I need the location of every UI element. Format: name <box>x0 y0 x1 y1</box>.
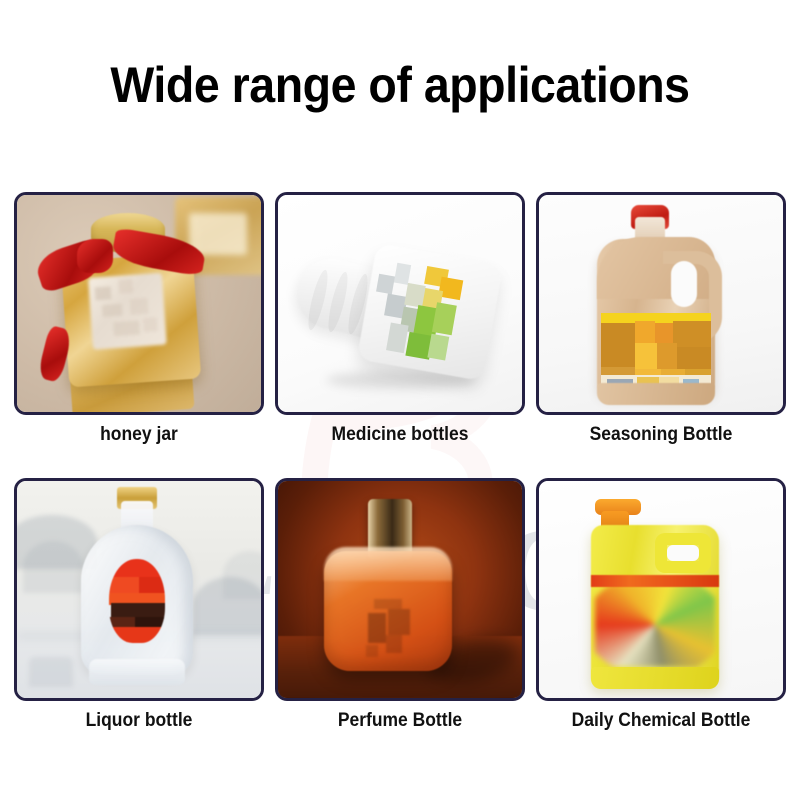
page-title: Wide range of applications <box>28 56 772 114</box>
card-liquor-bottle[interactable] <box>14 478 264 701</box>
caption-seasoning-bottle: Seasoning Bottle <box>546 424 776 446</box>
honey-jar-photo <box>17 195 261 412</box>
daily-chemical-bottle-photo <box>539 481 783 698</box>
seasoning-bottle-photo <box>539 195 783 412</box>
card-daily-chemical-bottle[interactable] <box>536 478 786 701</box>
card-honey-jar[interactable] <box>14 192 264 415</box>
caption-honey-jar: honey jar <box>24 424 254 446</box>
perfume-bottle-photo <box>278 481 522 698</box>
caption-medicine-bottles: Medicine bottles <box>285 424 515 446</box>
liquor-bottle-photo <box>17 481 261 698</box>
caption-perfume-bottle: Perfume Bottle <box>285 710 515 732</box>
card-perfume-bottle[interactable] <box>275 478 525 701</box>
card-medicine-bottles[interactable] <box>275 192 525 415</box>
caption-liquor-bottle: Liquor bottle <box>24 710 254 732</box>
medicine-bottle-photo <box>278 195 522 412</box>
caption-daily-chemical-bottle: Daily Chemical Bottle <box>546 710 776 732</box>
applications-grid: honey jar <box>0 0 800 800</box>
card-seasoning-bottle[interactable] <box>536 192 786 415</box>
